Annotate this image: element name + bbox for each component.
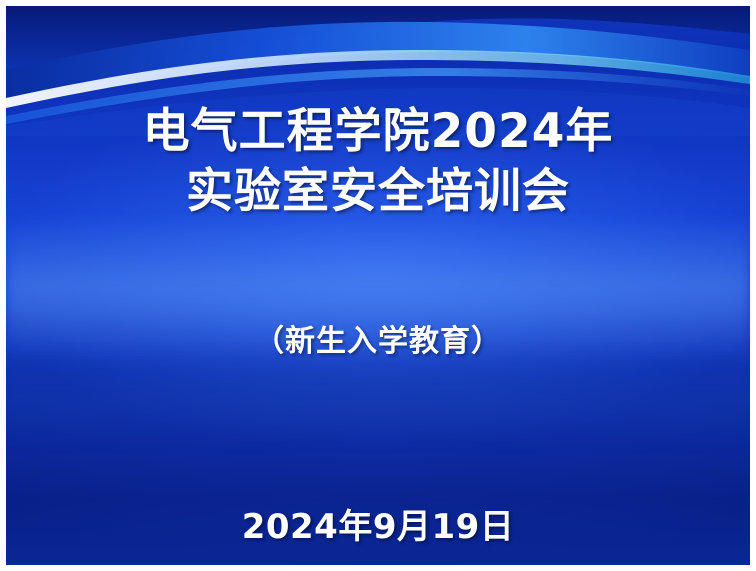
title-line-2: 实验室安全培训会 <box>6 162 750 222</box>
slide-blue-panel: 电气工程学院2024年 实验室安全培训会 （新生入学教育） 2024年9月19日 <box>6 6 750 565</box>
slide-title: 电气工程学院2024年 实验室安全培训会 <box>6 102 750 222</box>
presentation-slide: 电气工程学院2024年 实验室安全培训会 （新生入学教育） 2024年9月19日 <box>0 0 756 571</box>
slide-subtitle: （新生入学教育） <box>6 316 750 360</box>
light-band-lower <box>6 353 750 442</box>
slide-date: 2024年9月19日 <box>6 499 750 548</box>
title-line-1: 电气工程学院2024年 <box>6 102 750 162</box>
